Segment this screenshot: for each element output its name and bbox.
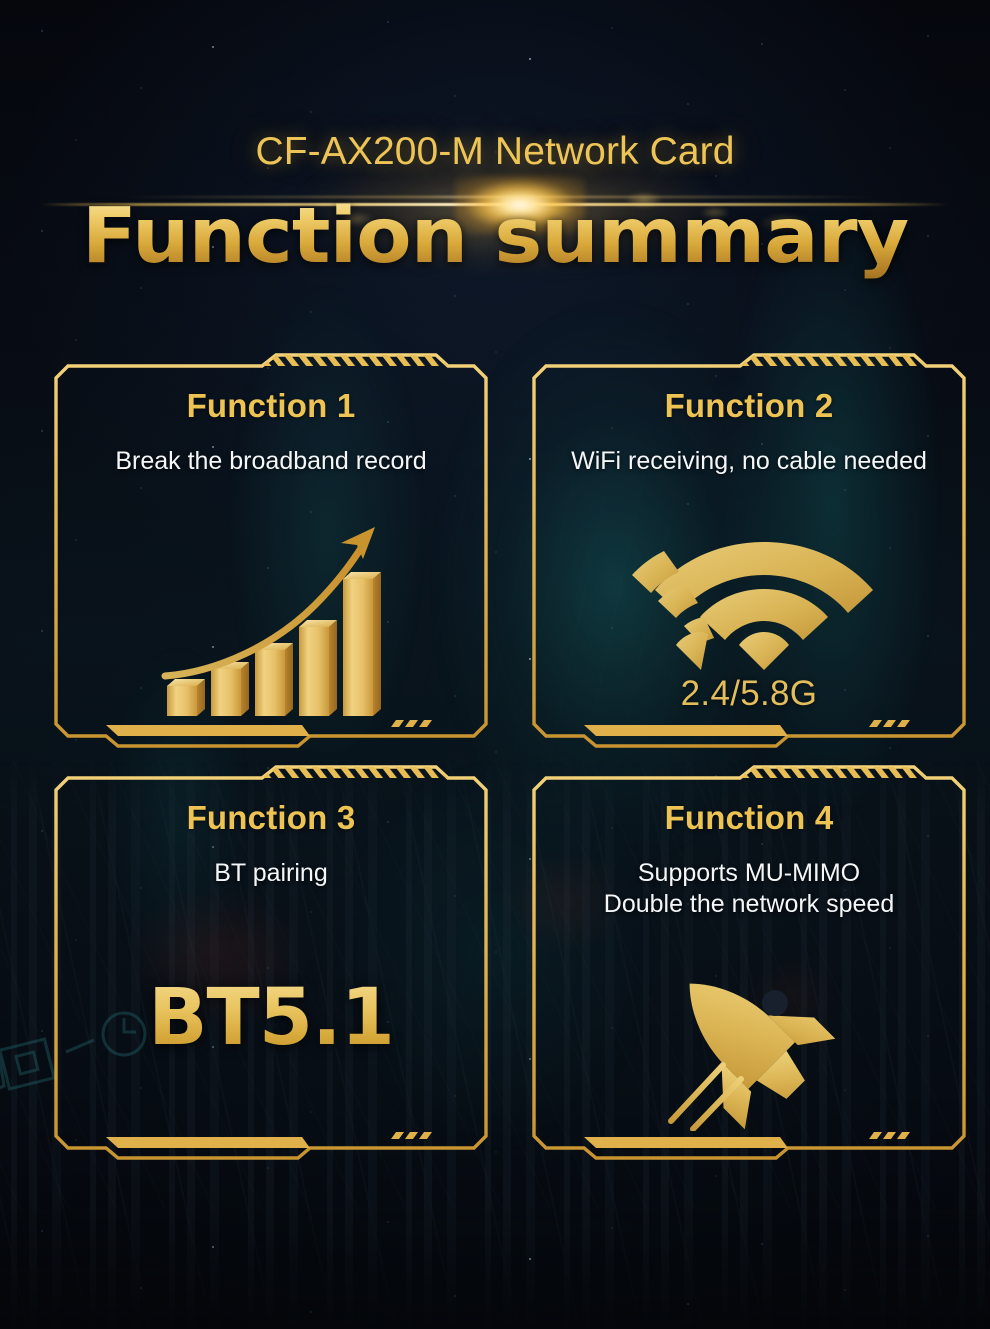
product-name: CF-AX200-M Network Card [0,130,990,174]
panel-description: Supports MU-MIMO Double the network spee… [598,858,900,919]
panel-artwork: BT5.1 [44,889,498,1162]
panel-artwork [522,919,976,1162]
panel-title: Function 3 [187,800,356,836]
wifi-band-caption: 2.4/5.8G [681,674,818,714]
function-panel-2: Function 2 WiFi receiving, no cable need… [522,352,952,764]
panel-title: Function 4 [665,800,834,836]
poster-root: CF-AX200-M Network Card Function summary [0,0,990,1329]
function-panel-1: Function 1 Break the broadband record [44,352,498,764]
poster-header: CF-AX200-M Network Card Function summary [0,0,990,330]
panel-title: Function 2 [665,388,834,424]
panel-description: WiFi receiving, no cable needed [565,446,933,477]
section-title: Function summary [0,192,990,281]
function-panel-4: Function 4 Supports MU-MIMO Double the n… [522,764,952,1176]
panel-description: BT pairing [208,858,334,889]
panel-description: Break the broadband record [109,446,432,477]
rocket-icon [649,951,849,1131]
panel-artwork [44,477,498,750]
bar-chart-growth-icon [155,509,387,717]
function-panel-grid: Function 1 Break the broadband record [44,352,946,1176]
panel-artwork: 2.4/5.8G [522,477,976,750]
function-panel-3: Function 3 BT pairing BT5.1 [44,764,498,1176]
panel-title: Function 1 [187,388,356,424]
dual-band-wifi-icon [624,512,874,672]
bluetooth-version-label: BT5.1 [148,973,394,1063]
